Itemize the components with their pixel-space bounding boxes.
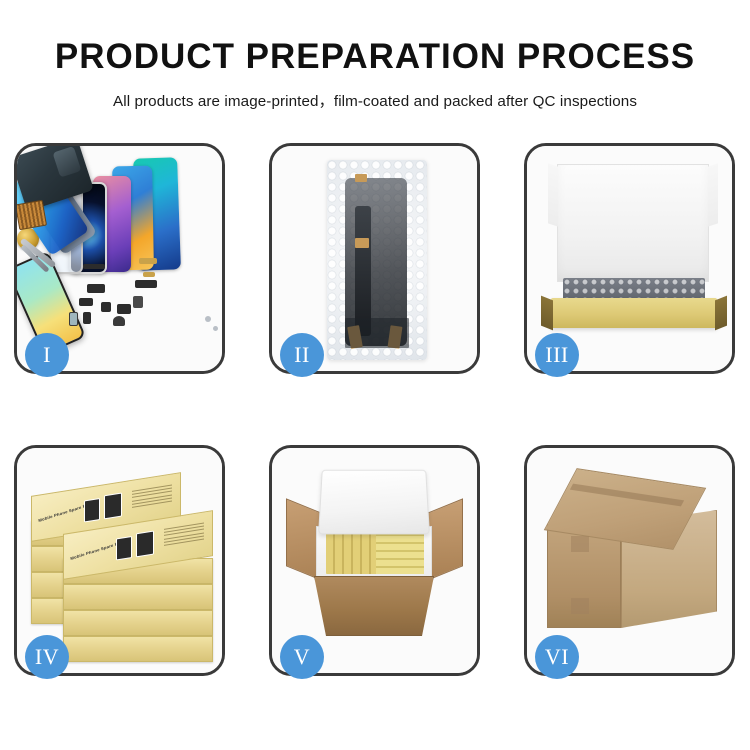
foam-case-lid: [318, 470, 430, 535]
page-subtitle: All products are image-printed，film-coat…: [0, 89, 750, 111]
product-preparation-page: PRODUCT PREPARATION PROCESS All products…: [0, 0, 750, 750]
box-thumb-front-1: [116, 536, 132, 561]
step-badge-3: III: [535, 333, 579, 377]
tape-piece-middle: [355, 238, 369, 248]
flex-cable-3: [135, 280, 157, 288]
camera-module: [117, 304, 131, 314]
small-part-2: [101, 302, 111, 312]
page-title: PRODUCT PREPARATION PROCESS: [0, 38, 750, 77]
step-badge-1: I: [25, 333, 69, 377]
step-badge-5: V: [280, 635, 324, 679]
connector-gold: [139, 258, 157, 264]
stacked-box-layer-6: [63, 584, 213, 610]
vibrator-motor: [83, 312, 91, 324]
process-step-panel-6[interactable]: VI: [524, 445, 735, 676]
box-thumb-rear-2: [104, 492, 122, 519]
white-box-lid: [557, 164, 709, 282]
page-header: PRODUCT PREPARATION PROCESS All products…: [0, 0, 750, 111]
step-badge-2: II: [280, 333, 324, 377]
box-spec-lines-front: [164, 523, 204, 548]
step-badge-6: VI: [535, 635, 579, 679]
tape-piece-top: [355, 174, 367, 182]
logic-board-chip: [17, 200, 47, 230]
small-part-1: [79, 298, 93, 306]
process-step-panel-5[interactable]: V: [269, 445, 480, 676]
stacked-box-layer-7: [63, 610, 213, 636]
stacked-box-layer-8: [63, 636, 213, 662]
earpiece-part: [113, 316, 125, 326]
sensor-part: [69, 312, 78, 326]
process-step-panel-1[interactable]: I: [14, 143, 225, 374]
step-badge-4: IV: [25, 635, 69, 679]
box-thumb-rear-1: [84, 498, 100, 523]
yellow-box-base: [551, 298, 717, 328]
box-thumb-front-2: [136, 530, 154, 557]
process-step-panel-4[interactable]: Mobile Phone Spare Parts Mobile Phone Sp…: [14, 445, 225, 676]
carton-tape-upper: [571, 536, 589, 552]
flex-cable-1: [83, 264, 105, 269]
screw-1: [205, 316, 211, 322]
screen-flex-strip: [355, 206, 371, 336]
flex-cable-2: [87, 284, 105, 293]
yellow-boxes-row-right: [376, 532, 424, 574]
process-step-grid: I II I: [14, 143, 736, 676]
screw-2: [213, 326, 218, 331]
connector-gold-2: [143, 272, 155, 277]
sim-tray: [133, 296, 143, 308]
box-spec-lines-rear: [132, 485, 172, 510]
process-step-panel-2[interactable]: II: [269, 143, 480, 374]
carton-tape-lower: [571, 598, 589, 614]
connector-base-dark: [345, 318, 409, 348]
carton-body: [314, 576, 434, 636]
bubble-wrap-bag: [327, 160, 427, 360]
retail-box-stack: Mobile Phone Spare Parts Mobile Phone Sp…: [25, 462, 221, 658]
process-step-panel-3[interactable]: III: [524, 143, 735, 374]
